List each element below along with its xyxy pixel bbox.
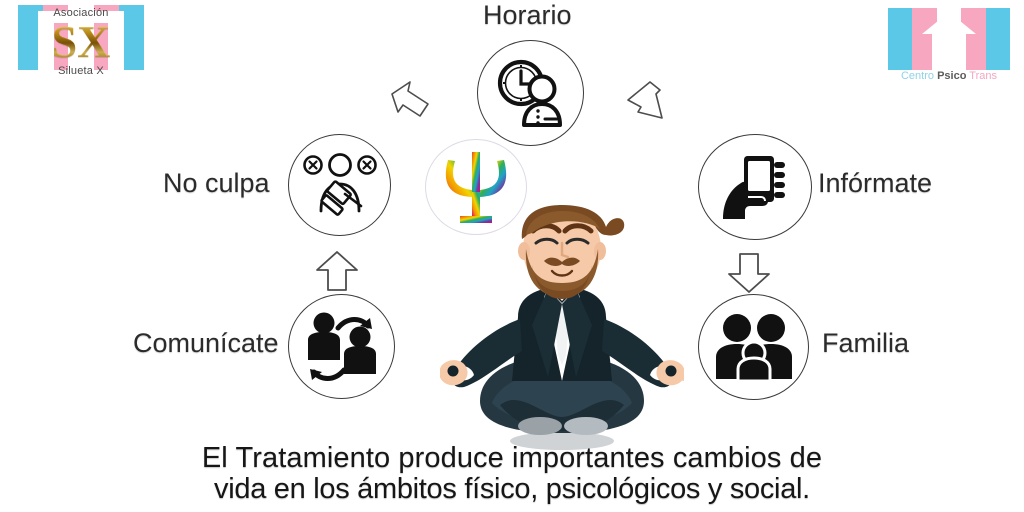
logo-word-trans: Trans	[969, 70, 997, 82]
node-circle-informate[interactable]	[698, 134, 812, 240]
arrow-down-icon	[725, 248, 773, 296]
asociacion-silueta-x-logo: Asociación SX Silueta X	[18, 5, 144, 95]
node-circle-comunicate[interactable]	[288, 294, 395, 399]
meditating-man-illustration	[440, 205, 684, 455]
family-group-icon	[714, 313, 794, 381]
logo-word-centro: Centro	[901, 70, 934, 82]
arrow-up-icon	[313, 248, 361, 296]
arrow-down-left-icon	[622, 78, 670, 126]
node-label-no-culpa: No culpa	[163, 168, 270, 199]
logo-word-psico: Psico	[937, 70, 966, 82]
node-circle-horario[interactable]	[477, 40, 584, 146]
caption-line-2: vida en los ámbitos físico, psicológicos…	[0, 474, 1024, 505]
node-circle-no-culpa[interactable]	[288, 134, 391, 236]
house-icon	[922, 12, 976, 74]
clock-person-icon	[491, 57, 571, 129]
caption-line-1: El Tratamiento produce importantes cambi…	[202, 442, 822, 474]
node-label-comunicate: Comunícate	[133, 328, 279, 359]
arrow-up-left-icon	[388, 78, 436, 126]
hand-smartphone-icon	[717, 153, 793, 221]
logo-bottom-text: Silueta X	[18, 65, 144, 77]
node-label-informate: Infórmate	[818, 168, 932, 199]
node-label-familia: Familia	[822, 328, 909, 359]
caption-text: El Tratamiento produce importantes cambi…	[0, 443, 1024, 505]
centro-psico-trans-logo: Centro Psico Trans	[888, 8, 1010, 94]
logo-monogram: SX	[18, 19, 144, 65]
logo-wordmark: Centro Psico Trans	[888, 70, 1010, 82]
infographic-canvas: Asociación SX Silueta X Centro Psico Tra…	[0, 0, 1024, 512]
node-circle-familia[interactable]	[698, 294, 809, 400]
node-label-horario: Horario	[483, 0, 572, 31]
two-people-exchange-icon	[304, 312, 380, 382]
gavel-no-blame-icon	[303, 153, 377, 217]
